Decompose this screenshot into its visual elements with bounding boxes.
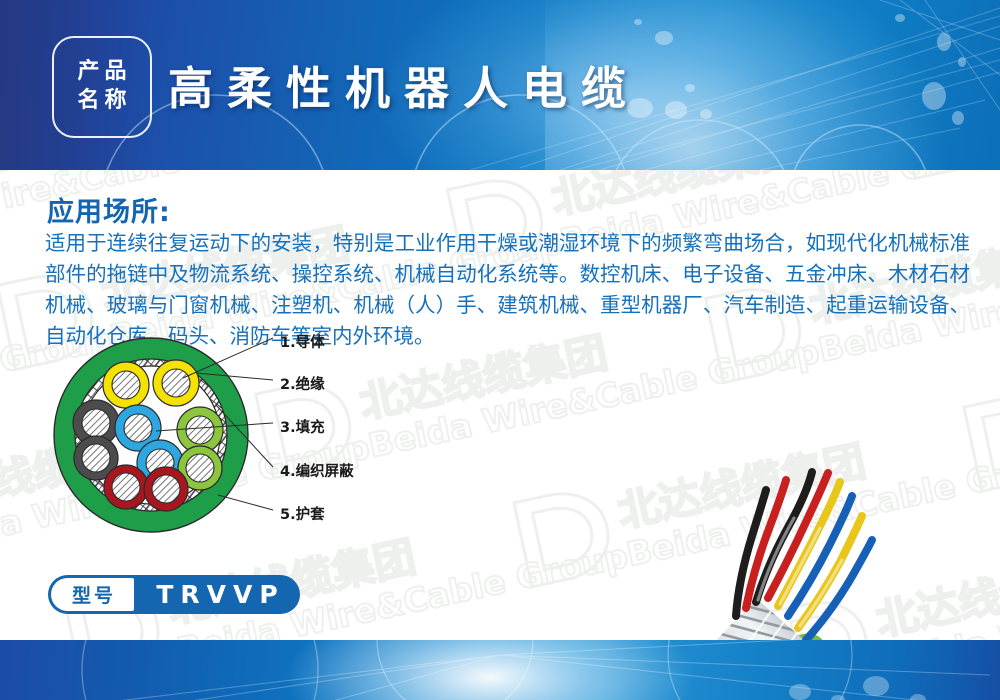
product-name-badge: 产品 名称	[52, 36, 152, 138]
legend-item-1: 1.导体	[280, 331, 325, 352]
footer-light-rays	[0, 640, 1000, 700]
legend-item-2: 2.绝缘	[280, 373, 325, 394]
badge-line-2: 名称	[72, 87, 131, 116]
cross-section-legend: 1.导体 2.绝缘 3.填充 4.编织屏蔽 5.护套	[272, 335, 432, 535]
content-area: 北达线缆集团 Beida Wire&Cable Group	[0, 170, 1000, 640]
application-text: 适用于连续往复运动下的安装，特别是工业作用干燥或潮湿环境下的频繁弯曲场合，如现代…	[45, 228, 970, 353]
page-title: 高柔性机器人电缆	[168, 52, 640, 117]
legend-item-3: 3.填充	[280, 416, 325, 437]
badge-line-1: 产品	[72, 58, 131, 87]
footer-band	[0, 640, 1000, 700]
application-heading: 应用场所:	[47, 190, 171, 229]
legend-item-5: 5.护套	[280, 503, 325, 524]
product-photo-cable	[560, 340, 1000, 640]
legend-item-4: 4.编织屏蔽	[280, 460, 354, 481]
model-key-label: 型号	[51, 578, 134, 611]
header-band: 产品 名称 高柔性机器人电缆	[0, 0, 1000, 170]
model-value: TRVVP	[134, 580, 300, 609]
product-banner: 产品 名称 高柔性机器人电缆 北达线缆集团 Beida Wire&Cable G…	[0, 0, 1000, 700]
model-badge: 型号 TRVVP	[48, 575, 300, 614]
